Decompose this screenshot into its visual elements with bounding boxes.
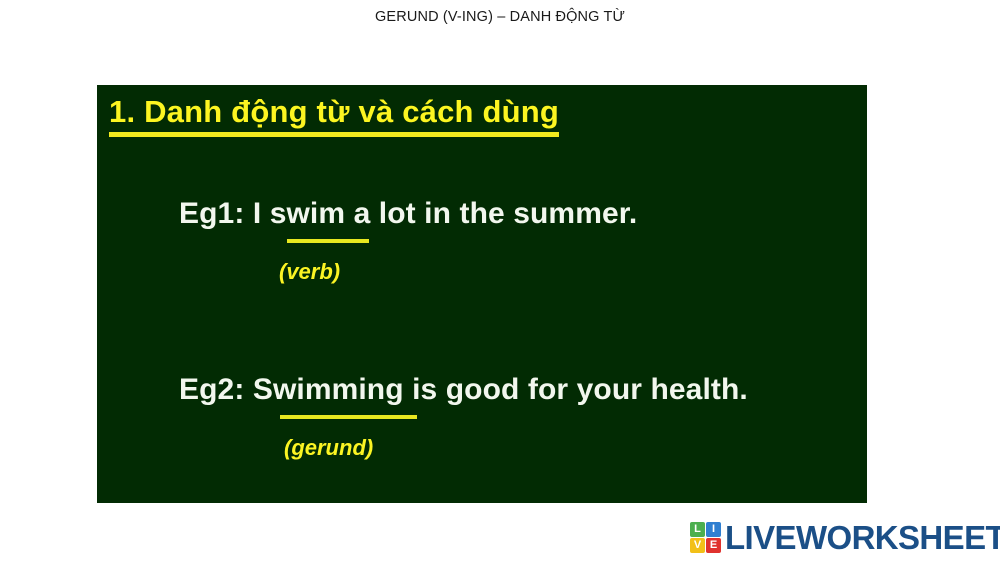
word-underline-swimming xyxy=(280,415,417,419)
word-underline-swim xyxy=(287,239,369,243)
logo-tile-v: V xyxy=(690,538,705,553)
logo-wordmark: LIVEWORKSHEETS xyxy=(725,521,1000,554)
logo-tile-l: L xyxy=(690,522,705,537)
example-block-2: Eg2: Swimming is good for your health. (… xyxy=(179,373,748,461)
lesson-slide: 1. Danh động từ và cách dùng Eg1: I swim… xyxy=(97,85,867,503)
slide-heading-block: 1. Danh động từ và cách dùng xyxy=(109,96,559,137)
example-tag-2: (gerund) xyxy=(284,435,748,461)
logo-tiles-icon: L I V E xyxy=(690,522,721,553)
page-title: GERUND (V-ING) – DANH ĐỘNG TỪ xyxy=(375,9,625,25)
page-header: GERUND (V-ING) – DANH ĐỘNG TỪ xyxy=(0,0,1000,33)
example-sentence-1: Eg1: I swim a lot in the summer. xyxy=(179,197,637,231)
example-tag-1: (verb) xyxy=(279,259,637,285)
slide-heading: 1. Danh động từ và cách dùng xyxy=(109,96,559,129)
logo-tile-e: E xyxy=(706,538,721,553)
logo-tile-i: I xyxy=(706,522,721,537)
example-block-1: Eg1: I swim a lot in the summer. (verb) xyxy=(179,197,637,285)
liveworksheets-logo[interactable]: L I V E LIVEWORKSHEETS xyxy=(690,521,1000,554)
slide-heading-underline xyxy=(109,132,559,137)
example-sentence-2: Eg2: Swimming is good for your health. xyxy=(179,373,748,407)
